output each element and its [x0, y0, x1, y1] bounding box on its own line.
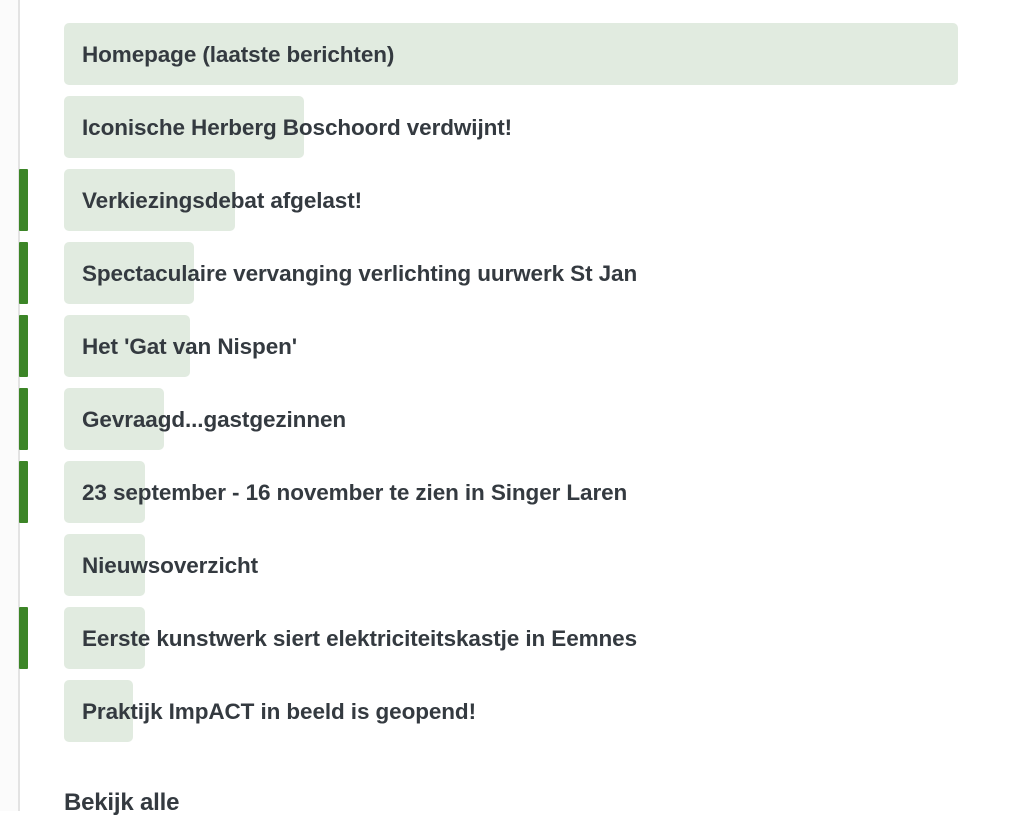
list-item[interactable]: Verkiezingsdebat afgelast!: [0, 164, 1024, 237]
new-item-marker-icon: [19, 242, 28, 304]
footer-heading: Bekijk alle: [64, 789, 179, 817]
new-item-marker-icon: [19, 461, 28, 523]
list-item-title[interactable]: Iconische Herberg Boschoord verdwijnt!: [82, 91, 512, 164]
news-list: Homepage (laatste berichten)Iconische He…: [0, 0, 1024, 811]
list-item[interactable]: Homepage (laatste berichten): [0, 18, 1024, 91]
list-item[interactable]: Gevraagd...gastgezinnen: [0, 383, 1024, 456]
list-item[interactable]: Eerste kunstwerk siert elektriciteitskas…: [0, 602, 1024, 675]
new-item-marker-icon: [19, 607, 28, 669]
list-item-title[interactable]: Nieuwsoverzicht: [82, 529, 258, 602]
list-item[interactable]: Iconische Herberg Boschoord verdwijnt!: [0, 91, 1024, 164]
list-item-title[interactable]: 23 september - 16 november te zien in Si…: [82, 456, 627, 529]
list-item-title[interactable]: Het 'Gat van Nispen': [82, 310, 297, 383]
list-item-title[interactable]: Verkiezingsdebat afgelast!: [82, 164, 362, 237]
new-item-marker-icon: [19, 315, 28, 377]
list-item-title[interactable]: Eerste kunstwerk siert elektriciteitskas…: [82, 602, 637, 675]
list-item[interactable]: Spectaculaire vervanging verlichting uur…: [0, 237, 1024, 310]
new-item-marker-icon: [19, 169, 28, 231]
list-item-title[interactable]: Homepage (laatste berichten): [82, 18, 394, 91]
list-item-title[interactable]: Spectaculaire vervanging verlichting uur…: [82, 237, 637, 310]
list-item-title[interactable]: Gevraagd...gastgezinnen: [82, 383, 346, 456]
list-item[interactable]: Praktijk ImpACT in beeld is geopend!: [0, 675, 1024, 748]
list-item[interactable]: Nieuwsoverzicht: [0, 529, 1024, 602]
new-item-marker-icon: [19, 388, 28, 450]
list-item[interactable]: Het 'Gat van Nispen': [0, 310, 1024, 383]
list-item[interactable]: 23 september - 16 november te zien in Si…: [0, 456, 1024, 529]
list-item-title[interactable]: Praktijk ImpACT in beeld is geopend!: [82, 675, 476, 748]
